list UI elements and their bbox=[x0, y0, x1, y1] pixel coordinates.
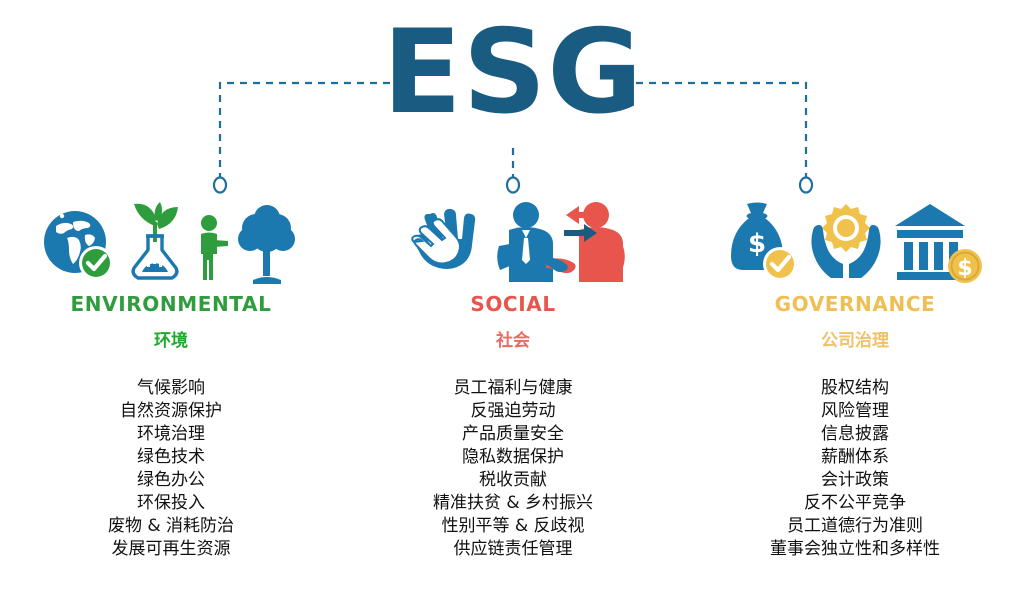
list-item: 员工福利与健康 bbox=[433, 377, 593, 400]
column-environmental: ENVIRONMENTAL 环境 气候影响 自然资源保护 环境治理 绿色技术 绿… bbox=[0, 192, 342, 561]
list-item: 性别平等 & 反歧视 bbox=[433, 515, 593, 538]
flask-plant-icon bbox=[120, 196, 190, 284]
connector-endpoint-left bbox=[214, 178, 226, 193]
category-label-environmental: ENVIRONMENTAL bbox=[71, 292, 272, 316]
column-governance: $ bbox=[684, 192, 1026, 561]
list-item: 绿色技术 bbox=[108, 446, 234, 469]
list-item: 员工道德行为准则 bbox=[770, 515, 940, 538]
list-item: 供应链责任管理 bbox=[433, 538, 593, 561]
icon-row-governance: $ bbox=[725, 192, 985, 284]
money-bag-check-icon: $ bbox=[725, 200, 799, 284]
list-item: 气候影响 bbox=[108, 377, 234, 400]
list-item: 发展可再生资源 bbox=[108, 538, 234, 561]
column-social: SOCIAL 社会 员工福利与健康 反强迫劳动 产品质量安全 隐私数据保护 税收… bbox=[342, 192, 684, 561]
list-item: 薪酬体系 bbox=[770, 446, 940, 469]
list-item: 股权结构 bbox=[770, 377, 940, 400]
list-item: 产品质量安全 bbox=[433, 423, 593, 446]
list-item: 隐私数据保护 bbox=[433, 446, 593, 469]
bank-coin-icon: $ bbox=[893, 200, 985, 284]
handshake-exchange-icon bbox=[496, 200, 626, 284]
item-list-social: 员工福利与健康 反强迫劳动 产品质量安全 隐私数据保护 税收贡献 精准扶贫 & … bbox=[433, 377, 593, 561]
globe-check-icon bbox=[42, 202, 116, 284]
list-item: 董事会独立性和多样性 bbox=[770, 538, 940, 561]
connector-endpoint-right bbox=[800, 178, 812, 193]
item-list-governance: 股权结构 风险管理 信息披露 薪酬体系 会计政策 反不公平竞争 员工道德行为准则… bbox=[770, 377, 940, 561]
connector-endpoint-center bbox=[507, 178, 519, 193]
list-item: 自然资源保护 bbox=[108, 400, 234, 423]
person-icon bbox=[194, 210, 230, 284]
list-item: 反强迫劳动 bbox=[433, 400, 593, 423]
list-item: 环保投入 bbox=[108, 492, 234, 515]
category-label-social: SOCIAL bbox=[470, 292, 555, 316]
list-item: 环境治理 bbox=[108, 423, 234, 446]
list-item: 税收贡献 bbox=[433, 469, 593, 492]
helping-hands-icon bbox=[400, 208, 492, 284]
svg-text:$: $ bbox=[957, 256, 972, 281]
connector-lines bbox=[0, 0, 1026, 210]
list-item: 信息披露 bbox=[770, 423, 940, 446]
category-label-cn-environmental: 环境 bbox=[154, 326, 188, 351]
connector-left bbox=[220, 83, 390, 178]
list-item: 风险管理 bbox=[770, 400, 940, 423]
hands-gear-icon bbox=[803, 200, 889, 284]
category-label-cn-governance: 公司治理 bbox=[821, 326, 889, 351]
category-label-cn-social: 社会 bbox=[496, 326, 530, 351]
list-item: 废物 & 消耗防治 bbox=[108, 515, 234, 538]
list-item: 反不公平竞争 bbox=[770, 492, 940, 515]
icon-row-social bbox=[400, 192, 626, 284]
connector-right bbox=[636, 83, 806, 178]
category-columns: ENVIRONMENTAL 环境 气候影响 自然资源保护 环境治理 绿色技术 绿… bbox=[0, 192, 1026, 561]
icon-row-environmental bbox=[42, 192, 300, 284]
tree-icon bbox=[234, 204, 300, 284]
esg-infographic: ESG bbox=[0, 0, 1026, 591]
svg-text:$: $ bbox=[748, 229, 766, 259]
list-item: 绿色办公 bbox=[108, 469, 234, 492]
list-item: 会计政策 bbox=[770, 469, 940, 492]
list-item: 精准扶贫 & 乡村振兴 bbox=[433, 492, 593, 515]
item-list-environmental: 气候影响 自然资源保护 环境治理 绿色技术 绿色办公 环保投入 废物 & 消耗防… bbox=[108, 377, 234, 561]
category-label-governance: GOVERNANCE bbox=[775, 292, 936, 316]
